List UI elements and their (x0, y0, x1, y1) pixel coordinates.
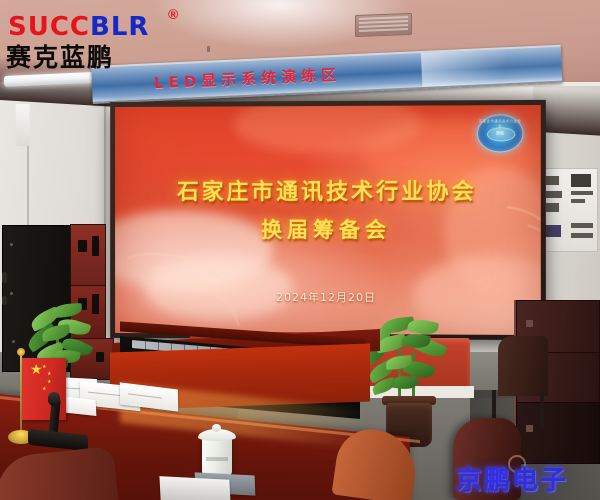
wall-control-panel[interactable] (540, 168, 598, 252)
flag-star-icon: ★ (42, 362, 46, 373)
speaker-indicator (10, 292, 13, 295)
flag-star-icon: ★ (42, 384, 46, 395)
speaker-badge (526, 320, 533, 327)
left-speaker-cabinet (70, 224, 106, 286)
screen-vignette (115, 105, 541, 335)
speaker-handle (2, 272, 7, 283)
flag-finial (17, 348, 25, 356)
speaker-badge (526, 425, 533, 432)
document-sheet (159, 476, 230, 500)
watermark-text: 京鹏电子 (456, 460, 568, 497)
meeting-room-photo: LED显示系统演练区 石家庄市通讯技术行业协会 协会 石家庄市通讯技术行业协会 … (0, 0, 600, 500)
chair-leg (540, 392, 544, 428)
cup-lid-knob (212, 424, 221, 432)
light-end-cap (16, 104, 31, 146)
speaker-port (96, 352, 104, 362)
brand-chinese-name: 赛克蓝鹏 (6, 38, 114, 74)
cup-band (206, 457, 228, 461)
speaker-indicator (10, 243, 13, 246)
flag-star-icon: ★ (30, 364, 43, 375)
brand-logo: SUCCBLR ® 赛克蓝鹏 (0, 0, 600, 70)
speaker-handle (2, 296, 7, 305)
side-chair (498, 336, 548, 396)
right-speaker-cabinet (516, 402, 600, 464)
registered-trademark-icon: ® (168, 6, 178, 22)
speaker-port (92, 294, 99, 314)
flag-star-icon: ★ (47, 377, 51, 388)
led-display-screen: 石家庄市通讯技术行业协会 协会 石家庄市通讯技术行业协会 换届筹备会 2024年… (110, 100, 546, 340)
led-screen-surface: 石家庄市通讯技术行业协会 协会 石家庄市通讯技术行业协会 换届筹备会 2024年… (115, 105, 541, 335)
speaker-port (78, 240, 87, 252)
speaker-indicator (12, 340, 15, 343)
microphone-head (48, 392, 60, 406)
speaker-port (92, 236, 99, 256)
